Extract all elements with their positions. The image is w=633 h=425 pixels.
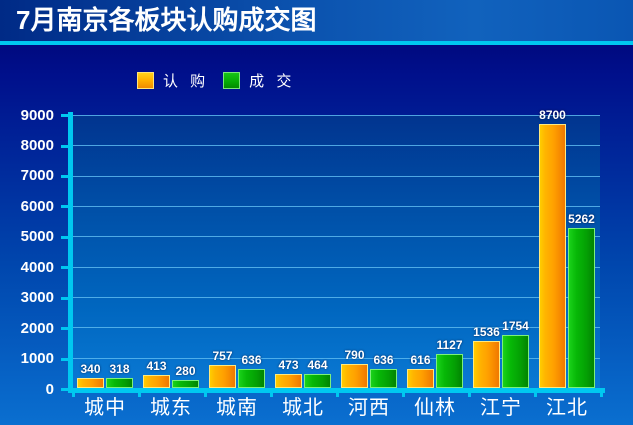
bar-renggou[interactable]: 616 [407,369,434,388]
bar-value-label: 8700 [539,109,566,122]
bar-group: 473464 [270,115,336,388]
bar-chengjiao[interactable]: 636 [370,369,397,388]
bar-group: 6161127 [402,115,468,388]
x-axis-category-label: 仙林 [402,396,468,421]
orange-square-swatch-icon [137,72,154,89]
legend-item-chengjiao: 成 交 [223,70,295,91]
bar-chengjiao[interactable]: 5262 [568,228,595,388]
x-axis-category-label: 河西 [336,396,402,421]
legend-item-renggou: 认 购 [137,70,209,91]
bar-group: 790636 [336,115,402,388]
y-axis-label-5000: 5000 [0,229,54,244]
y-axis-line [68,112,73,391]
bar-value-label: 464 [307,359,327,372]
title-bar: 7月南京各板块认购成交图 [0,0,633,41]
bar-group: 413280 [138,115,204,388]
legend-label-chengjiao: 成 交 [249,70,295,91]
x-axis-category-label: 城中 [72,396,138,421]
bar-chengjiao[interactable]: 464 [304,374,331,388]
bar-group: 15361754 [468,115,534,388]
x-tick [600,388,603,397]
legend-label-renggou: 认 购 [163,70,209,91]
y-axis-label-1000: 1000 [0,351,54,366]
chart-container: 7月南京各板块认购成交图 认 购 成 交 9000 8000 7000 6000… [0,0,633,425]
bar-value-label: 340 [80,363,100,376]
bar-renggou[interactable]: 340 [77,378,104,388]
bar-chengjiao[interactable]: 280 [172,380,199,388]
bar-value-label: 318 [109,363,129,376]
bar-value-label: 636 [241,354,261,367]
bar-value-label: 473 [278,359,298,372]
bar-chengjiao[interactable]: 1754 [502,335,529,388]
x-axis-category-label: 城北 [270,396,336,421]
page-title: 7月南京各板块认购成交图 [16,3,316,37]
bar-renggou[interactable]: 473 [275,374,302,388]
y-axis-label-8000: 8000 [0,138,54,153]
bar-renggou[interactable]: 1536 [473,341,500,388]
y-axis-label-6000: 6000 [0,199,54,214]
bar-chengjiao[interactable]: 636 [238,369,265,388]
bar-value-label: 1536 [473,326,500,339]
bar-renggou[interactable]: 8700 [539,124,566,388]
x-axis-category-label: 城南 [204,396,270,421]
bar-group: 757636 [204,115,270,388]
x-axis-category-label: 城东 [138,396,204,421]
bar-group: 340318 [72,115,138,388]
x-axis-category-label: 江北 [534,396,600,421]
bar-value-label: 5262 [568,213,595,226]
plot-area: 3403184132807576364734647906366161127153… [72,115,600,388]
y-axis-label-2000: 2000 [0,321,54,336]
bar-value-label: 636 [373,354,393,367]
y-axis-label-4000: 4000 [0,260,54,275]
x-axis-category-label: 江宁 [468,396,534,421]
bar-renggou[interactable]: 757 [209,365,236,388]
bar-value-label: 1754 [502,320,529,333]
title-divider [0,41,633,45]
bar-value-label: 616 [410,354,430,367]
y-axis-label-3000: 3000 [0,290,54,305]
bar-chengjiao[interactable]: 1127 [436,354,463,388]
bar-value-label: 413 [146,360,166,373]
bar-renggou[interactable]: 413 [143,375,170,388]
bar-value-label: 280 [175,365,195,378]
green-square-swatch-icon [223,72,240,89]
y-axis-label-7000: 7000 [0,168,54,183]
bar-value-label: 757 [212,350,232,363]
bar-chengjiao[interactable]: 318 [106,378,133,388]
bar-renggou[interactable]: 790 [341,364,368,388]
y-axis-label-9000: 9000 [0,108,54,123]
y-axis-label-0: 0 [0,382,54,397]
bar-value-label: 1127 [436,339,462,352]
chart-legend: 认 购 成 交 [137,70,295,91]
bar-group: 87005262 [534,115,600,388]
bar-value-label: 790 [344,349,364,362]
